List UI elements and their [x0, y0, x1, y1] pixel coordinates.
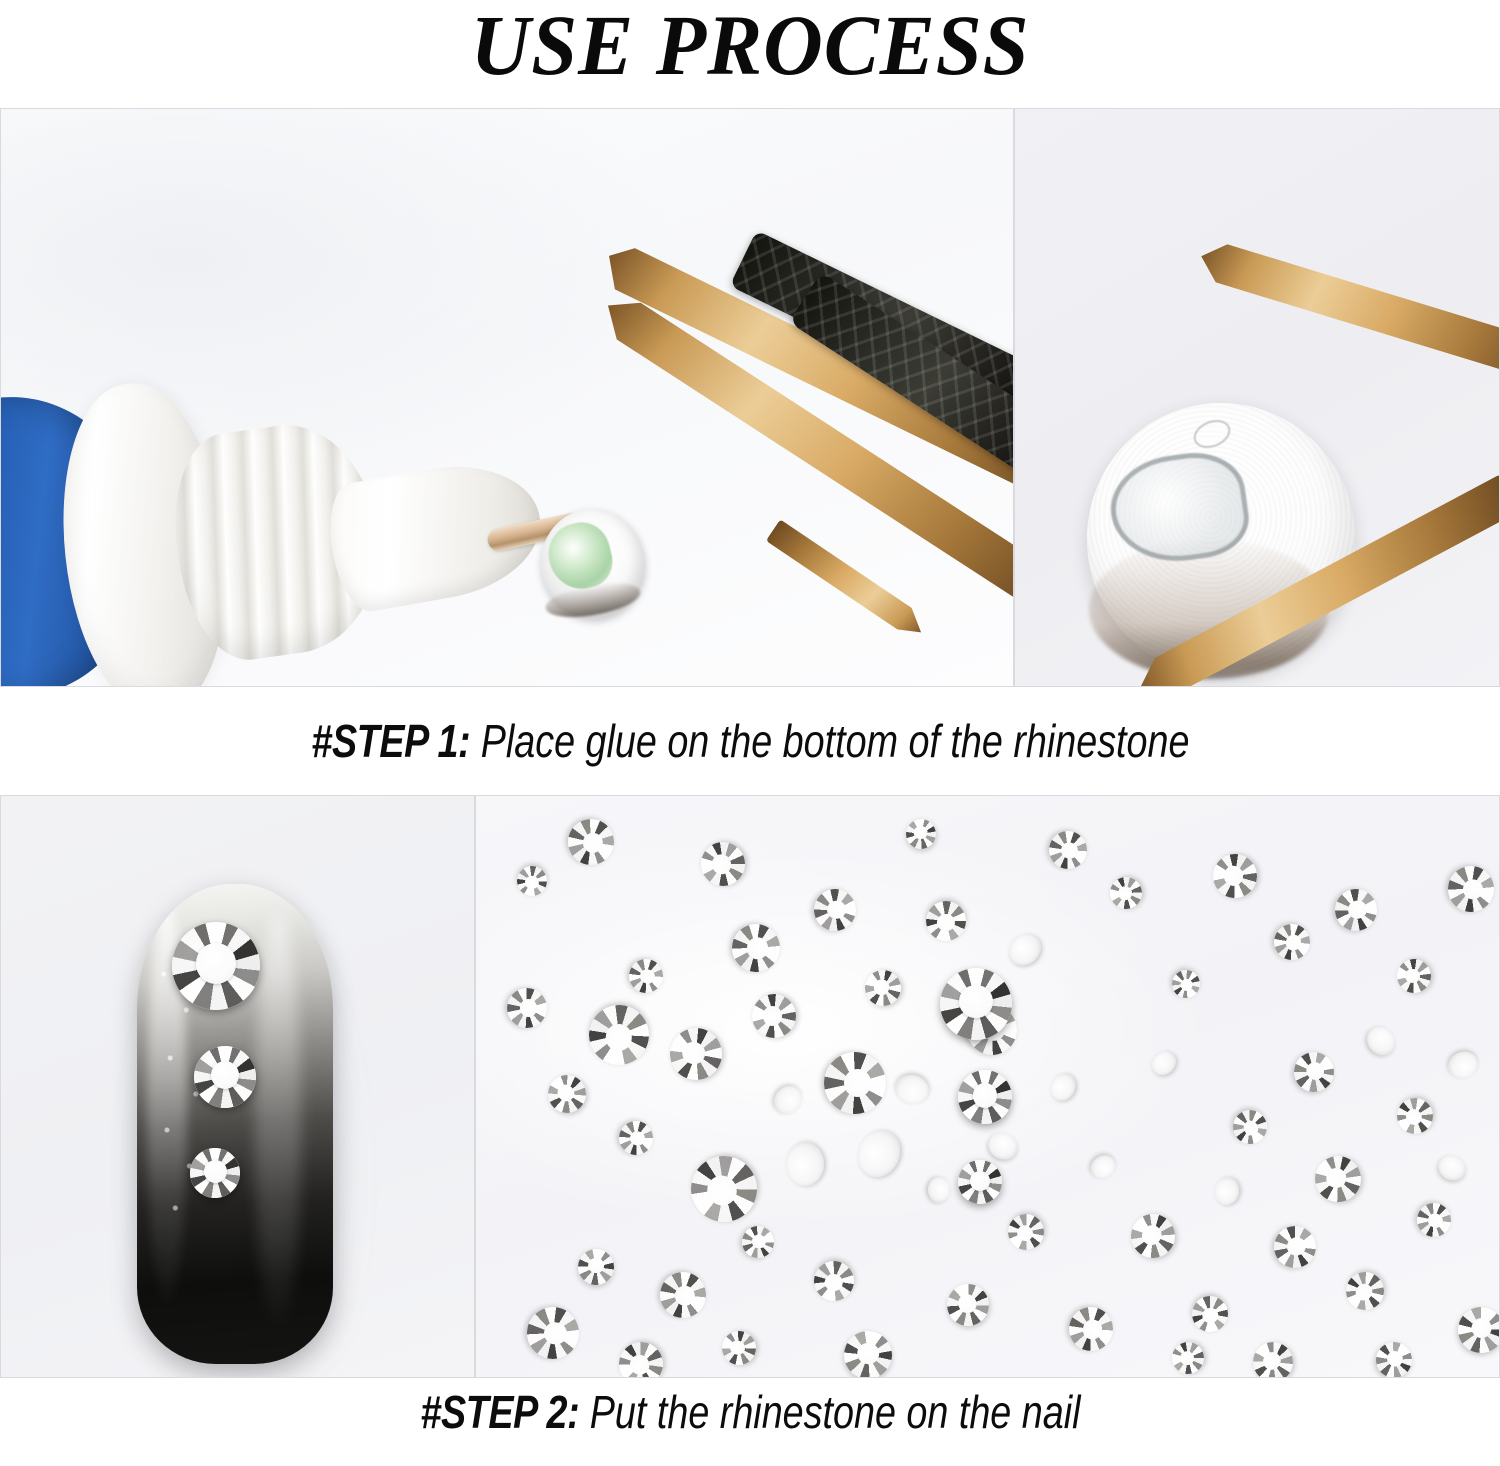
- rhinestone-icon: [1361, 1022, 1400, 1062]
- rhinestone-icon: [893, 1072, 932, 1107]
- rhinestone-icon: [1306, 1148, 1369, 1211]
- rhinestone-icon: [586, 1003, 651, 1068]
- rhinestone-icon: [1046, 1069, 1080, 1105]
- rhinestone-icon: [1212, 1175, 1241, 1207]
- rhinestone-icon: [507, 988, 547, 1028]
- rhinestone-icon: [190, 1148, 240, 1198]
- step-2-caption: #STEP 2: Put the rhinestone on the nail: [420, 1385, 1080, 1439]
- page-title: USE PROCESS: [471, 2, 1030, 88]
- rhinestone-macro-photo: [1014, 108, 1500, 687]
- rhinestone-icon: [653, 1265, 713, 1325]
- rhinestone-icon: [824, 1052, 886, 1114]
- rhinestone-icon: [1338, 1265, 1392, 1319]
- rhinestone-icon: [925, 900, 966, 941]
- rhinestone-icon: [768, 1080, 807, 1120]
- rhinestone-icon: [1434, 1152, 1469, 1185]
- rhinestone-icon: [194, 1046, 256, 1108]
- step-1-caption: #STEP 1: Place glue on the bottom of the…: [311, 714, 1189, 768]
- rhinestone-icon: [1444, 1047, 1482, 1083]
- rhinestone-icon: [1268, 1220, 1323, 1275]
- title-bar: USE PROCESS: [0, 0, 1500, 108]
- rhinestone-icon: [172, 922, 260, 1010]
- step-1-label: #STEP 1:: [311, 715, 470, 767]
- glue-application-photo: [0, 108, 1014, 687]
- rhinestone-icon: [940, 968, 1012, 1040]
- rhinestone-icon: [1003, 928, 1048, 972]
- rhinestone-icon: [560, 812, 621, 873]
- rhinestone-icon: [1369, 1335, 1420, 1378]
- rhinestone-icon: [810, 885, 859, 934]
- rhinestone-icon: [1166, 965, 1205, 1004]
- nail-gloss-center: [255, 914, 301, 1334]
- rhinestone-icon: [902, 816, 938, 852]
- rhinestone-icon: [1389, 1091, 1440, 1142]
- step-2-text: Put the rhinestone on the nail: [589, 1386, 1080, 1438]
- rhinestone-icon: [1396, 958, 1432, 994]
- rhinestone-icon: [958, 1160, 1002, 1204]
- rhinestone-icon: [1211, 853, 1258, 900]
- rhinestone-icon: [662, 1020, 730, 1088]
- rhinestone-icon: [1063, 1301, 1119, 1357]
- rhinestone-icon: [1331, 884, 1382, 935]
- rhinestone-icon: [752, 993, 797, 1038]
- rhinestone-icon: [1122, 1206, 1183, 1267]
- rhinestone-icon: [786, 1142, 824, 1186]
- rhinestone-icon: [625, 954, 668, 997]
- rhinestone-icon: [523, 1304, 582, 1363]
- rhinestone-icon: [718, 1327, 759, 1368]
- rhinestone-icon: [810, 1257, 857, 1304]
- rhinestone-icon: [540, 1067, 594, 1121]
- rhinestone-icon: [1001, 1207, 1052, 1258]
- tweezers-icon: [766, 519, 930, 641]
- rhinestone-icon: [1286, 1044, 1342, 1100]
- rhinestone-icon: [1226, 1103, 1274, 1151]
- rhinestone-icon: [728, 920, 784, 976]
- rhinestone-icon: [1147, 1046, 1181, 1080]
- rhinestone-icon: [1044, 826, 1093, 875]
- rhinestone-icon: [939, 1277, 995, 1333]
- rhinestone-icon: [1107, 874, 1146, 913]
- rhinestone-icon: [1086, 1151, 1120, 1184]
- step-1-caption-band: #STEP 1: Place glue on the bottom of the…: [0, 687, 1500, 795]
- step-2-label: #STEP 2:: [420, 1386, 579, 1438]
- rhinestone-icon: [1189, 1292, 1232, 1335]
- rhinestone-icon: [1269, 918, 1316, 965]
- rhinestone-icon: [737, 1221, 780, 1264]
- rhinestone-icon: [1169, 1339, 1207, 1377]
- rhinestone-icon: [1412, 1197, 1457, 1242]
- rhinestone-icon: [611, 1334, 671, 1378]
- step-1-photo-row: [0, 108, 1500, 687]
- rhinestone-icon: [958, 1070, 1012, 1124]
- rhinestone-icon: [615, 1117, 657, 1159]
- rhinestone-icon: [859, 964, 907, 1012]
- rhinestone-icon: [850, 1123, 906, 1183]
- tweezers-icon: [1195, 238, 1500, 382]
- rhinestone-icon: [1444, 862, 1498, 916]
- rhinestone-icon: [841, 1327, 895, 1378]
- rhinestone-icon: [927, 1177, 951, 1204]
- step-1-text: Place glue on the bottom of the rhinesto…: [480, 715, 1189, 767]
- rhinestone-icon: [516, 865, 548, 897]
- rhinestone-icon: [697, 838, 749, 890]
- rhinestone-icon: [984, 1128, 1022, 1164]
- rhinestone-icon: [1245, 1334, 1302, 1378]
- rhinestone-icon: [577, 1248, 615, 1286]
- rhinestone-icon: [1453, 1302, 1500, 1359]
- step-2-caption-band: #STEP 2: Put the rhinestone on the nail: [0, 1378, 1500, 1446]
- rhinestone-icon: [678, 1143, 770, 1235]
